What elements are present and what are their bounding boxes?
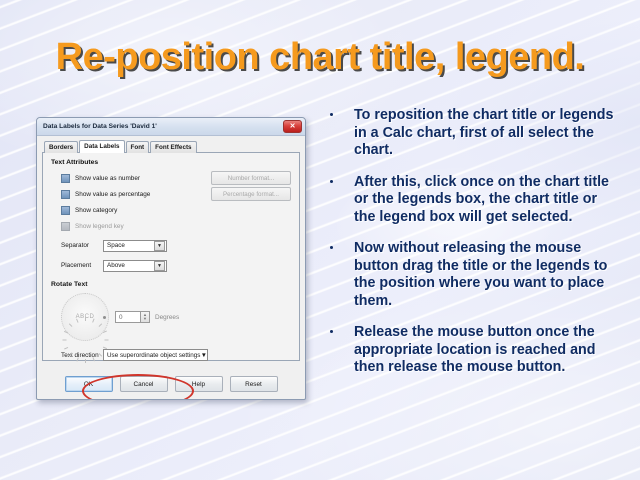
placement-dropdown[interactable]: Above ▼ bbox=[103, 260, 167, 272]
bullet-dot-icon bbox=[330, 246, 333, 249]
spinner-up-down-icon[interactable]: ▲▼ bbox=[141, 311, 150, 323]
bullet-text: To reposition the chart title or legends… bbox=[354, 107, 614, 158]
tab-bar: Borders Data Labels Font Font Effects bbox=[42, 139, 300, 153]
list-item: To reposition the chart title or legends… bbox=[322, 107, 622, 160]
separator-value: Space bbox=[107, 242, 154, 249]
label-show-value-as-percentage: Show value as percentage bbox=[75, 191, 150, 198]
tab-borders[interactable]: Borders bbox=[44, 141, 78, 153]
dialog-body: Borders Data Labels Font Font Effects Te… bbox=[37, 136, 305, 398]
bullet-dot-icon bbox=[330, 180, 333, 183]
rotate-text-group-label: Rotate Text bbox=[51, 281, 291, 288]
bullet-text: After this, click once on the chart titl… bbox=[354, 174, 609, 225]
dial-handle[interactable] bbox=[103, 316, 106, 319]
rotate-text-area: ABCD bbox=[51, 291, 291, 343]
chevron-down-icon[interactable]: ▼ bbox=[154, 241, 165, 251]
data-labels-panel: Text Attributes Show value as number Num… bbox=[42, 153, 300, 361]
chevron-down-icon[interactable]: ▼ bbox=[201, 352, 207, 359]
degrees-stepper[interactable]: 0 ▲▼ Degrees bbox=[115, 311, 179, 323]
list-item: After this, click once on the chart titl… bbox=[322, 174, 622, 227]
rotation-dial[interactable]: ABCD bbox=[61, 293, 109, 341]
checkbox-row-show-value-as-percentage: Show value as percentage Percentage form… bbox=[51, 188, 291, 200]
text-direction-value: Use superordinate object settings bbox=[107, 352, 201, 359]
bullet-dot-icon bbox=[330, 113, 333, 116]
tab-data-labels[interactable]: Data Labels bbox=[79, 140, 124, 153]
dialog-titlebar[interactable]: Data Labels for Data Series 'David 1' ✕ bbox=[37, 118, 305, 136]
close-icon[interactable]: ✕ bbox=[283, 120, 302, 133]
text-direction-dropdown[interactable]: Use superordinate object settings ▼ bbox=[103, 349, 208, 361]
slide-title: Re-position chart title, legend. bbox=[0, 36, 640, 79]
placement-value: Above bbox=[107, 262, 154, 269]
chevron-down-icon[interactable]: ▼ bbox=[154, 261, 165, 271]
tab-font-effects[interactable]: Font Effects bbox=[150, 141, 196, 153]
ok-button[interactable]: OK bbox=[65, 376, 113, 392]
text-direction-label: Text direction bbox=[61, 352, 103, 359]
cancel-button[interactable]: Cancel bbox=[120, 376, 168, 392]
checkbox-row-show-legend-key: Show legend key bbox=[51, 220, 291, 232]
bullet-text: Release the mouse button once the approp… bbox=[354, 324, 596, 375]
list-item: Release the mouse button once the approp… bbox=[322, 324, 622, 377]
help-button[interactable]: Help bbox=[175, 376, 223, 392]
bullet-text: Now without releasing the mouse button d… bbox=[354, 240, 607, 309]
bullet-list: To reposition the chart title or legends… bbox=[322, 107, 622, 391]
dialog-title: Data Labels for Data Series 'David 1' bbox=[43, 123, 283, 130]
placement-label: Placement bbox=[61, 262, 103, 269]
checkbox-show-legend-key bbox=[61, 222, 70, 231]
checkbox-show-value-as-percentage[interactable] bbox=[61, 190, 70, 199]
list-item: Now without releasing the mouse button d… bbox=[322, 240, 622, 310]
reset-button[interactable]: Reset bbox=[230, 376, 278, 392]
separator-label: Separator bbox=[61, 242, 103, 249]
slide-canvas: Re-position chart title, legend. To repo… bbox=[0, 0, 640, 480]
percentage-format-button[interactable]: Percentage format... bbox=[211, 187, 291, 201]
dialog-footer: OK Cancel Help Reset bbox=[37, 376, 305, 392]
data-labels-dialog: Data Labels for Data Series 'David 1' ✕ … bbox=[36, 117, 306, 400]
text-direction-row: Text direction Use superordinate object … bbox=[51, 349, 291, 361]
degrees-input[interactable]: 0 bbox=[115, 311, 141, 323]
tab-font[interactable]: Font bbox=[126, 141, 150, 153]
checkbox-row-show-value-as-number: Show value as number Number format... bbox=[51, 172, 291, 184]
label-show-legend-key: Show legend key bbox=[75, 223, 124, 230]
bullet-dot-icon bbox=[330, 330, 333, 333]
text-attributes-group-label: Text Attributes bbox=[51, 159, 291, 166]
label-show-value-as-number: Show value as number bbox=[75, 175, 140, 182]
number-format-button[interactable]: Number format... bbox=[211, 171, 291, 185]
separator-row: Separator Space ▼ bbox=[51, 239, 291, 252]
degrees-label: Degrees bbox=[155, 314, 179, 321]
checkbox-show-category[interactable] bbox=[61, 206, 70, 215]
separator-dropdown[interactable]: Space ▼ bbox=[103, 240, 167, 252]
checkbox-row-show-category: Show category bbox=[51, 204, 291, 216]
checkbox-show-value-as-number[interactable] bbox=[61, 174, 70, 183]
label-show-category: Show category bbox=[75, 207, 117, 214]
placement-row: Placement Above ▼ bbox=[51, 259, 291, 272]
